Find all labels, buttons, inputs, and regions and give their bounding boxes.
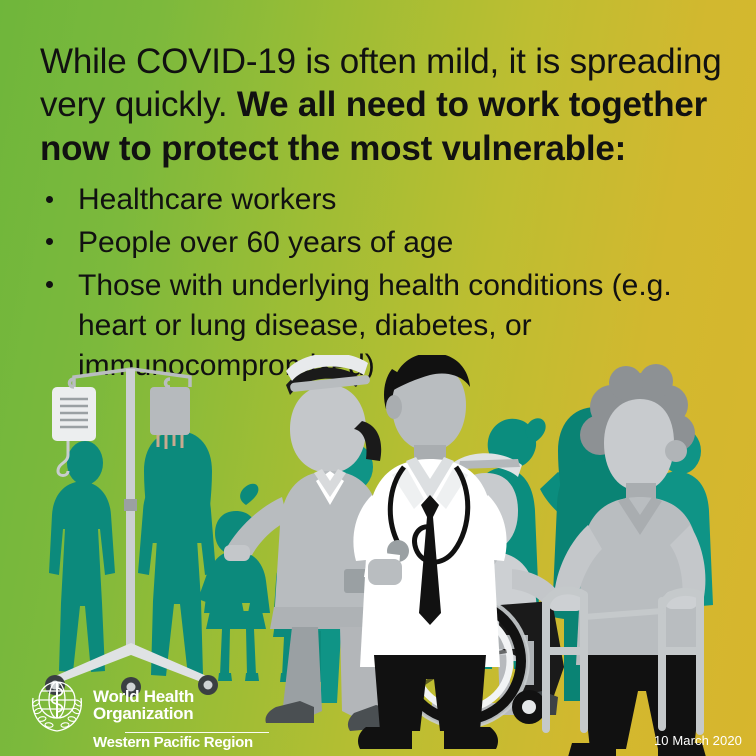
headline-colon: : <box>615 129 626 168</box>
doctor-hand <box>368 559 402 585</box>
bullet-dot-icon <box>46 281 53 288</box>
who-wordmark: World Health Organization <box>93 688 194 723</box>
who-wordmark-line1: World Health <box>93 688 194 705</box>
list-item-label: People over 60 years of age <box>78 226 453 259</box>
list-item-label: Healthcare workers <box>78 183 336 216</box>
who-wordmark-line2: Organization <box>93 705 194 722</box>
who-emblem <box>28 676 86 734</box>
list-item: Healthcare workers <box>40 180 730 220</box>
teal-silhouette-woman <box>138 431 216 676</box>
list-item: People over 60 years of age <box>40 223 730 263</box>
bullet-dot-icon <box>46 196 53 203</box>
who-covid-poster: While COVID-19 is often mild, it is spre… <box>0 0 756 756</box>
publication-date: 10 March 2020 <box>654 733 742 748</box>
bullet-dot-icon <box>46 238 53 245</box>
page-title: While COVID-19 is often mild, it is spre… <box>40 40 730 170</box>
who-region-label: Western Pacific Region <box>93 734 269 751</box>
who-logo: World Health Organization Western Pacifi… <box>28 676 194 734</box>
nurse-hand <box>224 545 250 561</box>
